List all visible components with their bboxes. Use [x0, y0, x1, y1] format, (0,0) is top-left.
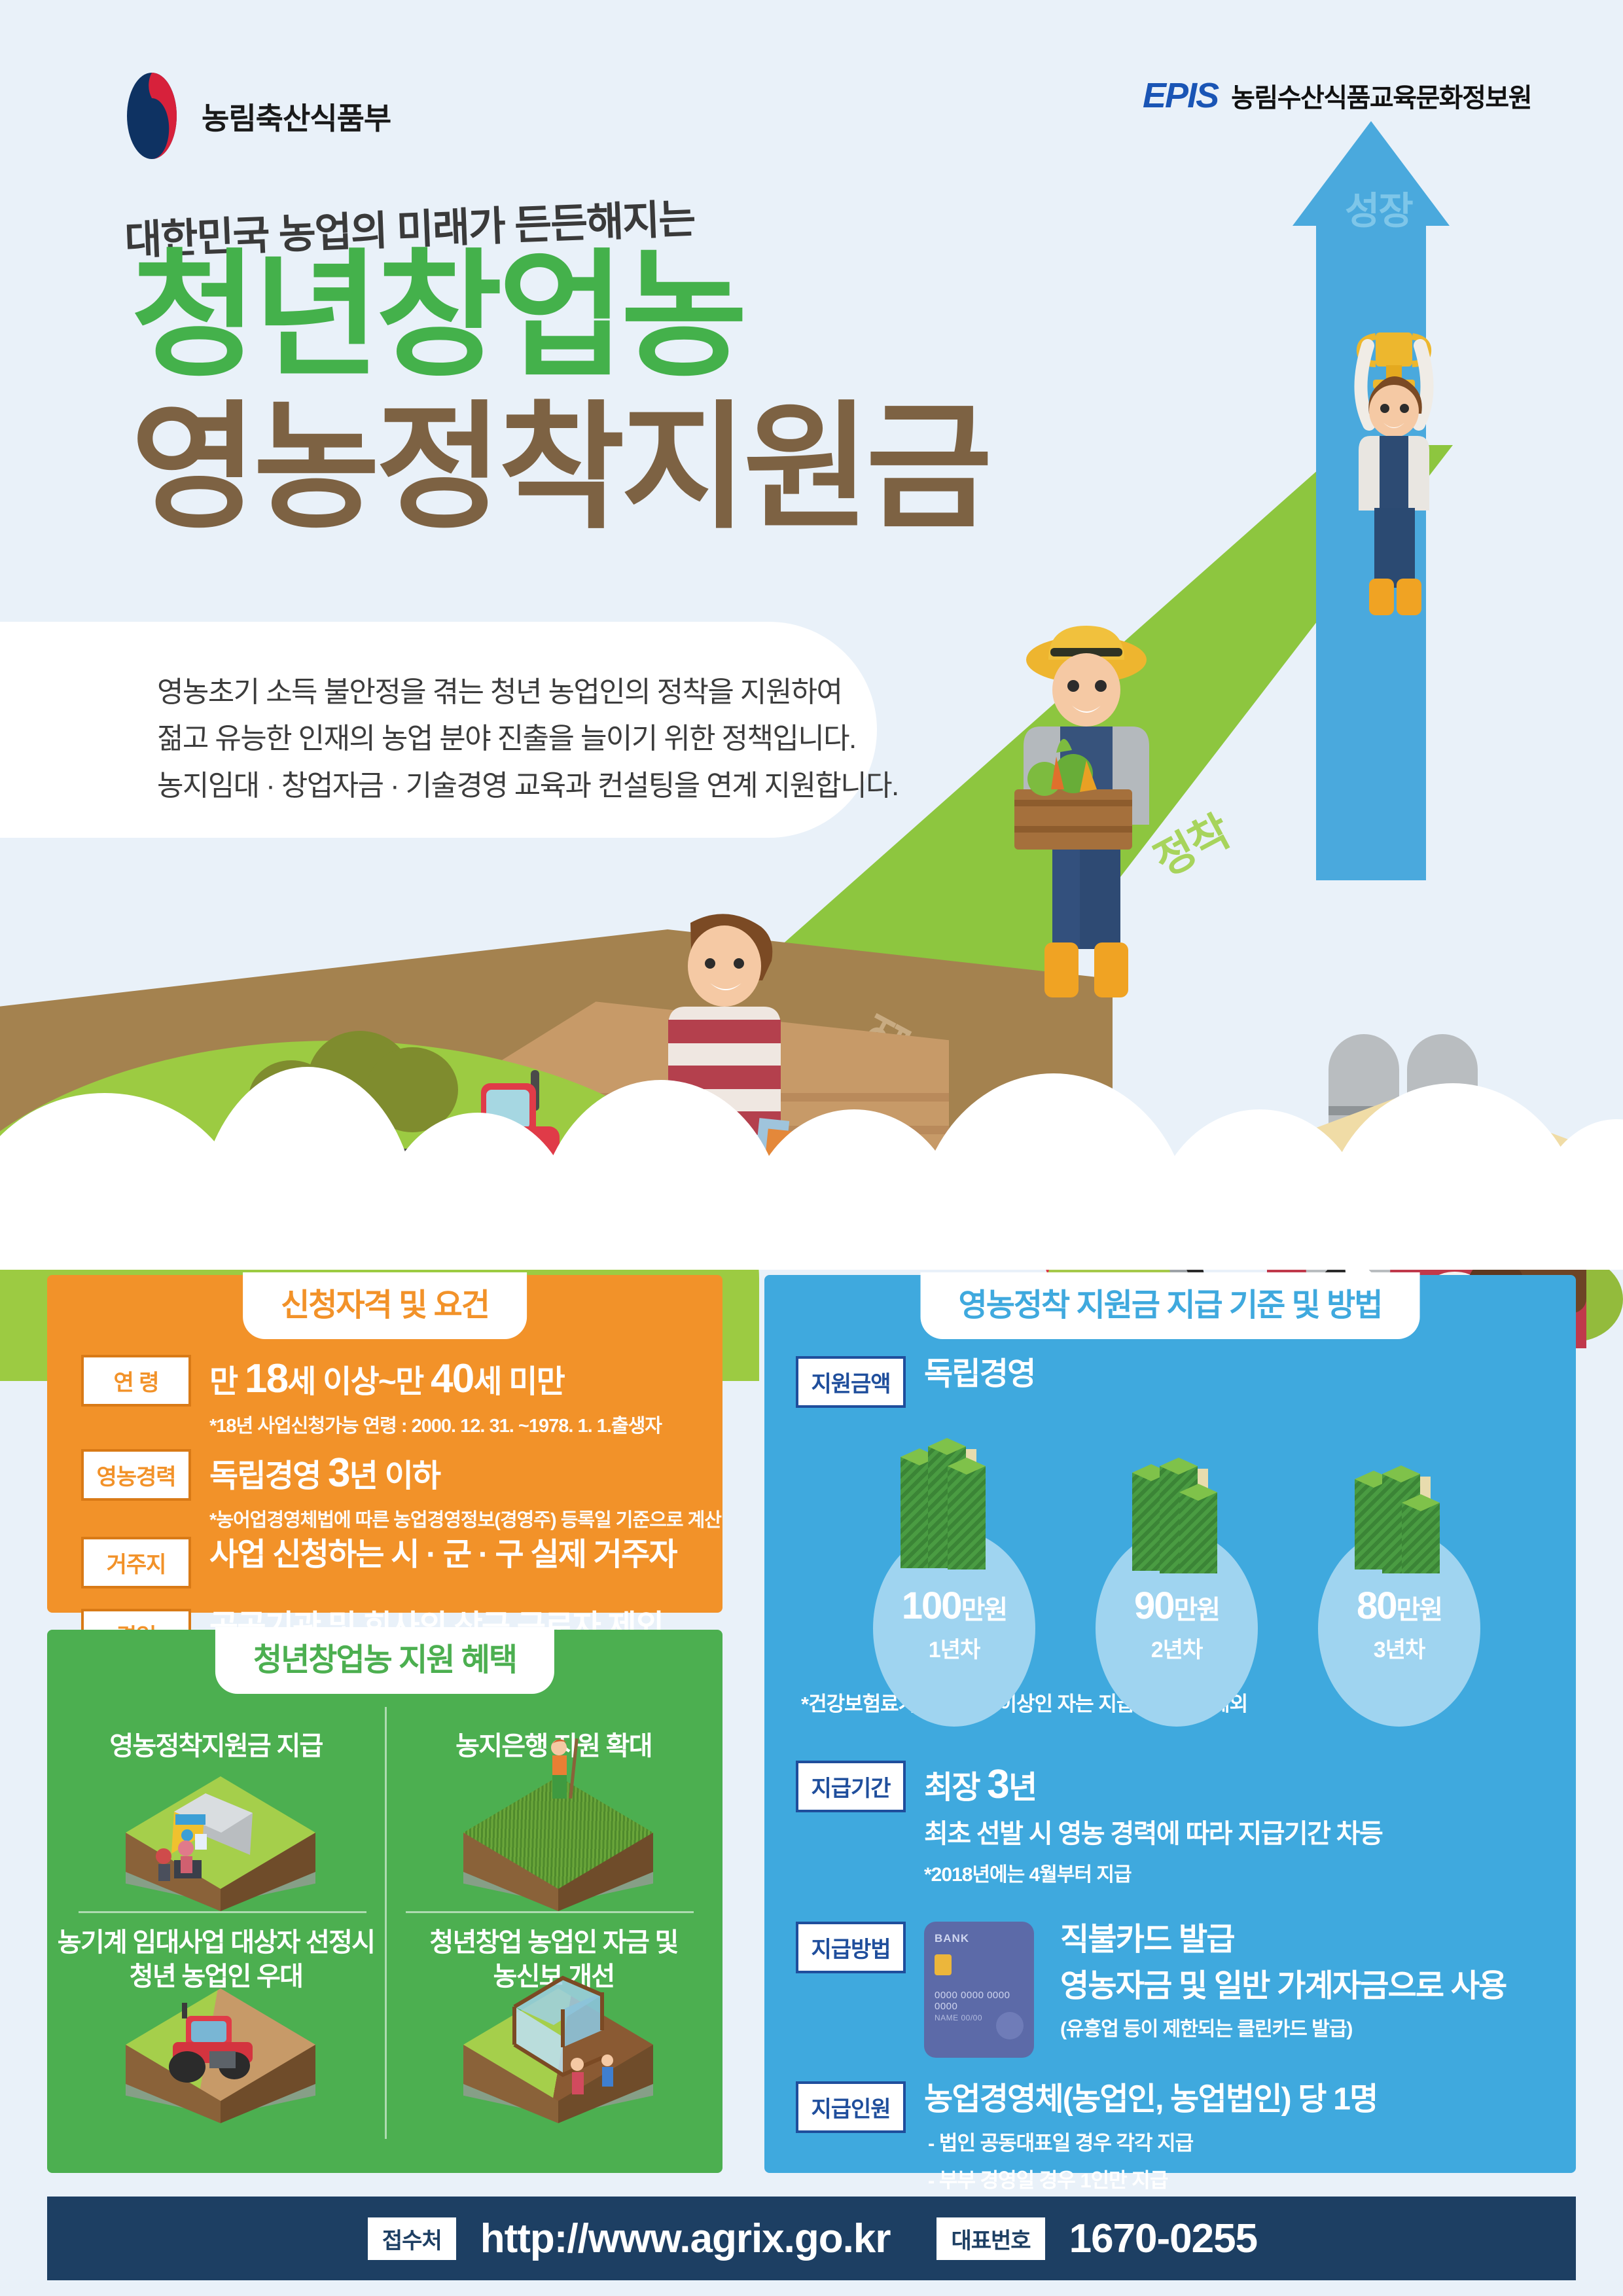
tag-amount: 지원금액: [796, 1356, 906, 1408]
benefit-item-4-label-line1: 청년창업 농업인 자금 및: [385, 1926, 722, 1960]
payment-period-main: 최장 3년: [924, 1761, 1382, 1808]
payment-method-line-1: 직불카드 발급: [1060, 1922, 1507, 1959]
card-name-label: NAME 00/00: [935, 2013, 982, 2022]
qualification-residence-main: 사업 신청하는 시 · 군 · 구 실제 거주자: [209, 1537, 677, 1574]
tag-residence: 거주지: [81, 1537, 191, 1588]
qualification-age-main: 만 18세 이상~만 40세 미만: [209, 1355, 662, 1403]
qualification-panel: 신청자격 및 요건 연 령 만 18세 이상~만 40세 미만 *18년 사업신…: [47, 1275, 722, 1613]
year-1-amount: 100만원: [856, 1584, 1052, 1628]
benefit-panel: 청년창업농 지원 혜택 영농정착지원금 지급: [47, 1630, 722, 2173]
year-3-label: 3년차: [1301, 1632, 1497, 1664]
footer-apply-tag: 접수처: [366, 2215, 458, 2262]
payment-amount-heading: 독립경영: [924, 1356, 1035, 1393]
tractor-iso-icon: [126, 1988, 315, 2139]
epis-logo-label: 농림수산식품교육문화정보원: [1231, 77, 1531, 115]
description-text: 영농초기 소득 불안정을 겪는 청년 농업인의 정착을 지원하여 젊고 유능한 …: [157, 669, 916, 809]
benefit-item-4: 청년창업 농업인 자금 및 농신보 개선: [385, 1926, 722, 1994]
payment-row-method: 지급방법 BANK 0000 0000 0000 0000 NAME 00/00…: [796, 1922, 1507, 2059]
footer-phone-tag: 대표번호: [935, 2215, 1046, 2262]
payment-period-detail: 최초 선발 시 영농 경력에 따라 지급기간 차등: [924, 1812, 1382, 1850]
card-logo-icon: [996, 2012, 1024, 2039]
card-number-label: 0000 0000 0000 0000: [935, 1990, 1034, 2012]
money-group-year-2: 90만원 2년차: [1079, 1460, 1275, 1539]
benefit-item-1: 영농정착지원금 지급: [47, 1729, 385, 1763]
payment-method-line-3: (유흥업 등이 제한되는 클린카드 발급): [1060, 2013, 1507, 2041]
title-line-2: 영농정착지원금: [131, 399, 988, 537]
rice-field-iso-icon: [463, 1776, 653, 1927]
benefit-item-1-label: 영농정착지원금 지급: [47, 1729, 385, 1763]
payment-row-amount: 지원금액 독립경영: [796, 1356, 1035, 1408]
payment-recipients-note-2: - 부부 경영일 경우 1인만 지급: [924, 2164, 1377, 2193]
money-stack-icon: [1339, 1474, 1470, 1585]
benefit-item-3-label-line1: 농기계 임대사업 대상자 선정시: [47, 1926, 385, 1960]
qualification-career-note: *농어업경영체법에 따른 농업경영정보(경영주) 등록일 기준으로 계산: [209, 1505, 721, 1532]
poster-root: 농림축산식품부 EPIS 농림수산식품교육문화정보원 정착 성장 창업: [0, 0, 1623, 2296]
footer-contact-bar: 접수처 http://www.agrix.go.kr 대표번호 1670-025…: [47, 2197, 1576, 2280]
benefit-vertical-divider: [385, 1707, 387, 2139]
description-line-1: 영농초기 소득 불안정을 겪는 청년 농업인의 정착을 지원하여: [157, 669, 916, 715]
tag-career: 영농경력: [81, 1449, 191, 1501]
year-3-amount: 80만원: [1301, 1584, 1497, 1628]
debit-card-icon: BANK 0000 0000 0000 0000 NAME 00/00: [924, 1922, 1034, 2058]
farmer-with-crate-illustration: [988, 622, 1185, 1041]
tag-period: 지급기간: [796, 1761, 906, 1812]
payment-row-period: 지급기간 최장 3년 최초 선발 시 영농 경력에 따라 지급기간 차등 *20…: [796, 1761, 1382, 1887]
money-stack-icon: [887, 1446, 1025, 1577]
card-bank-label: BANK: [935, 1932, 969, 1945]
payment-row-recipients: 지급인원 농업경영체(농업인, 농업법인) 당 1명 - 법인 공동대표일 경우…: [796, 2081, 1377, 2193]
payment-panel-tab: 영농정착 지원금 지급 기준 및 방법: [921, 1272, 1420, 1339]
qualification-career-main: 독립경영 3년 이하: [209, 1449, 721, 1497]
qualification-row-residence: 거주지 사업 신청하는 시 · 군 · 구 실제 거주자: [81, 1537, 677, 1588]
payment-recipients-note-1: - 법인 공동대표일 경우 각각 지급: [924, 2126, 1377, 2156]
payment-method-line-2: 영농자금 및 일반 가계자금으로 사용: [1060, 1968, 1507, 2005]
payment-period-note: *2018년에는 4월부터 지급: [924, 1858, 1382, 1887]
epis-mark-label: EPIS: [1143, 75, 1218, 116]
payment-recipients-main: 농업경영체(농업인, 농업법인) 당 1명: [924, 2081, 1377, 2119]
tag-age: 연 령: [81, 1355, 191, 1407]
support-amount-chart: 100만원 1년차 90만원 2년차 80만원 3년차: [764, 1460, 1576, 1734]
tag-method: 지급방법: [796, 1922, 906, 1973]
epis-logo: EPIS 농림수산식품교육문화정보원: [1143, 75, 1531, 116]
trophy-farmer-illustration: [1329, 314, 1459, 622]
tag-recipients: 지급인원: [796, 2081, 906, 2133]
qualification-panel-tab: 신청자격 및 요건: [243, 1272, 527, 1339]
card-chip-icon: [935, 1954, 952, 1975]
description-line-2: 젊고 유능한 인재의 농업 분야 진출을 늘이기 위한 정책입니다.: [157, 715, 916, 762]
year-1-label: 1년차: [856, 1632, 1052, 1664]
benefit-item-2: 농지은행 지원 확대: [385, 1729, 722, 1763]
bank-building-iso-icon: [126, 1776, 315, 1927]
money-group-year-1: 100만원 1년차: [856, 1460, 1052, 1539]
footer-apply-url[interactable]: http://www.agrix.go.kr: [480, 2215, 891, 2262]
qualification-row-age: 연 령 만 18세 이상~만 40세 미만 *18년 사업신청가능 연령 : 2…: [81, 1355, 662, 1438]
benefit-panel-tab: 청년창업농 지원 혜택: [215, 1627, 554, 1694]
footer-phone-number: 1670-0255: [1069, 2215, 1258, 2262]
year-2-label: 2년차: [1079, 1632, 1275, 1664]
benefit-item-3: 농기계 임대사업 대상자 선정시 청년 농업인 우대: [47, 1926, 385, 1994]
cloud-divider: [0, 1060, 1623, 1230]
money-group-year-3: 80만원 3년차: [1301, 1460, 1497, 1539]
qualification-age-note: *18년 사업신청가능 연령 : 2000. 12. 31. ~1978. 1.…: [209, 1410, 662, 1438]
title-line-1: 청년창업농: [131, 247, 743, 385]
description-line-3: 농지임대 · 창업자금 · 기술경영 교육과 컨설팅을 연계 지원합니다.: [157, 762, 916, 809]
greenhouse-iso-icon: [463, 1988, 653, 2139]
year-2-amount: 90만원: [1079, 1584, 1275, 1628]
qualification-row-career: 영농경력 독립경영 3년 이하 *농어업경영체법에 따른 농업경영정보(경영주)…: [81, 1449, 721, 1532]
money-stack-icon: [1116, 1466, 1247, 1584]
stage-label-growth: 성장: [1345, 180, 1412, 235]
